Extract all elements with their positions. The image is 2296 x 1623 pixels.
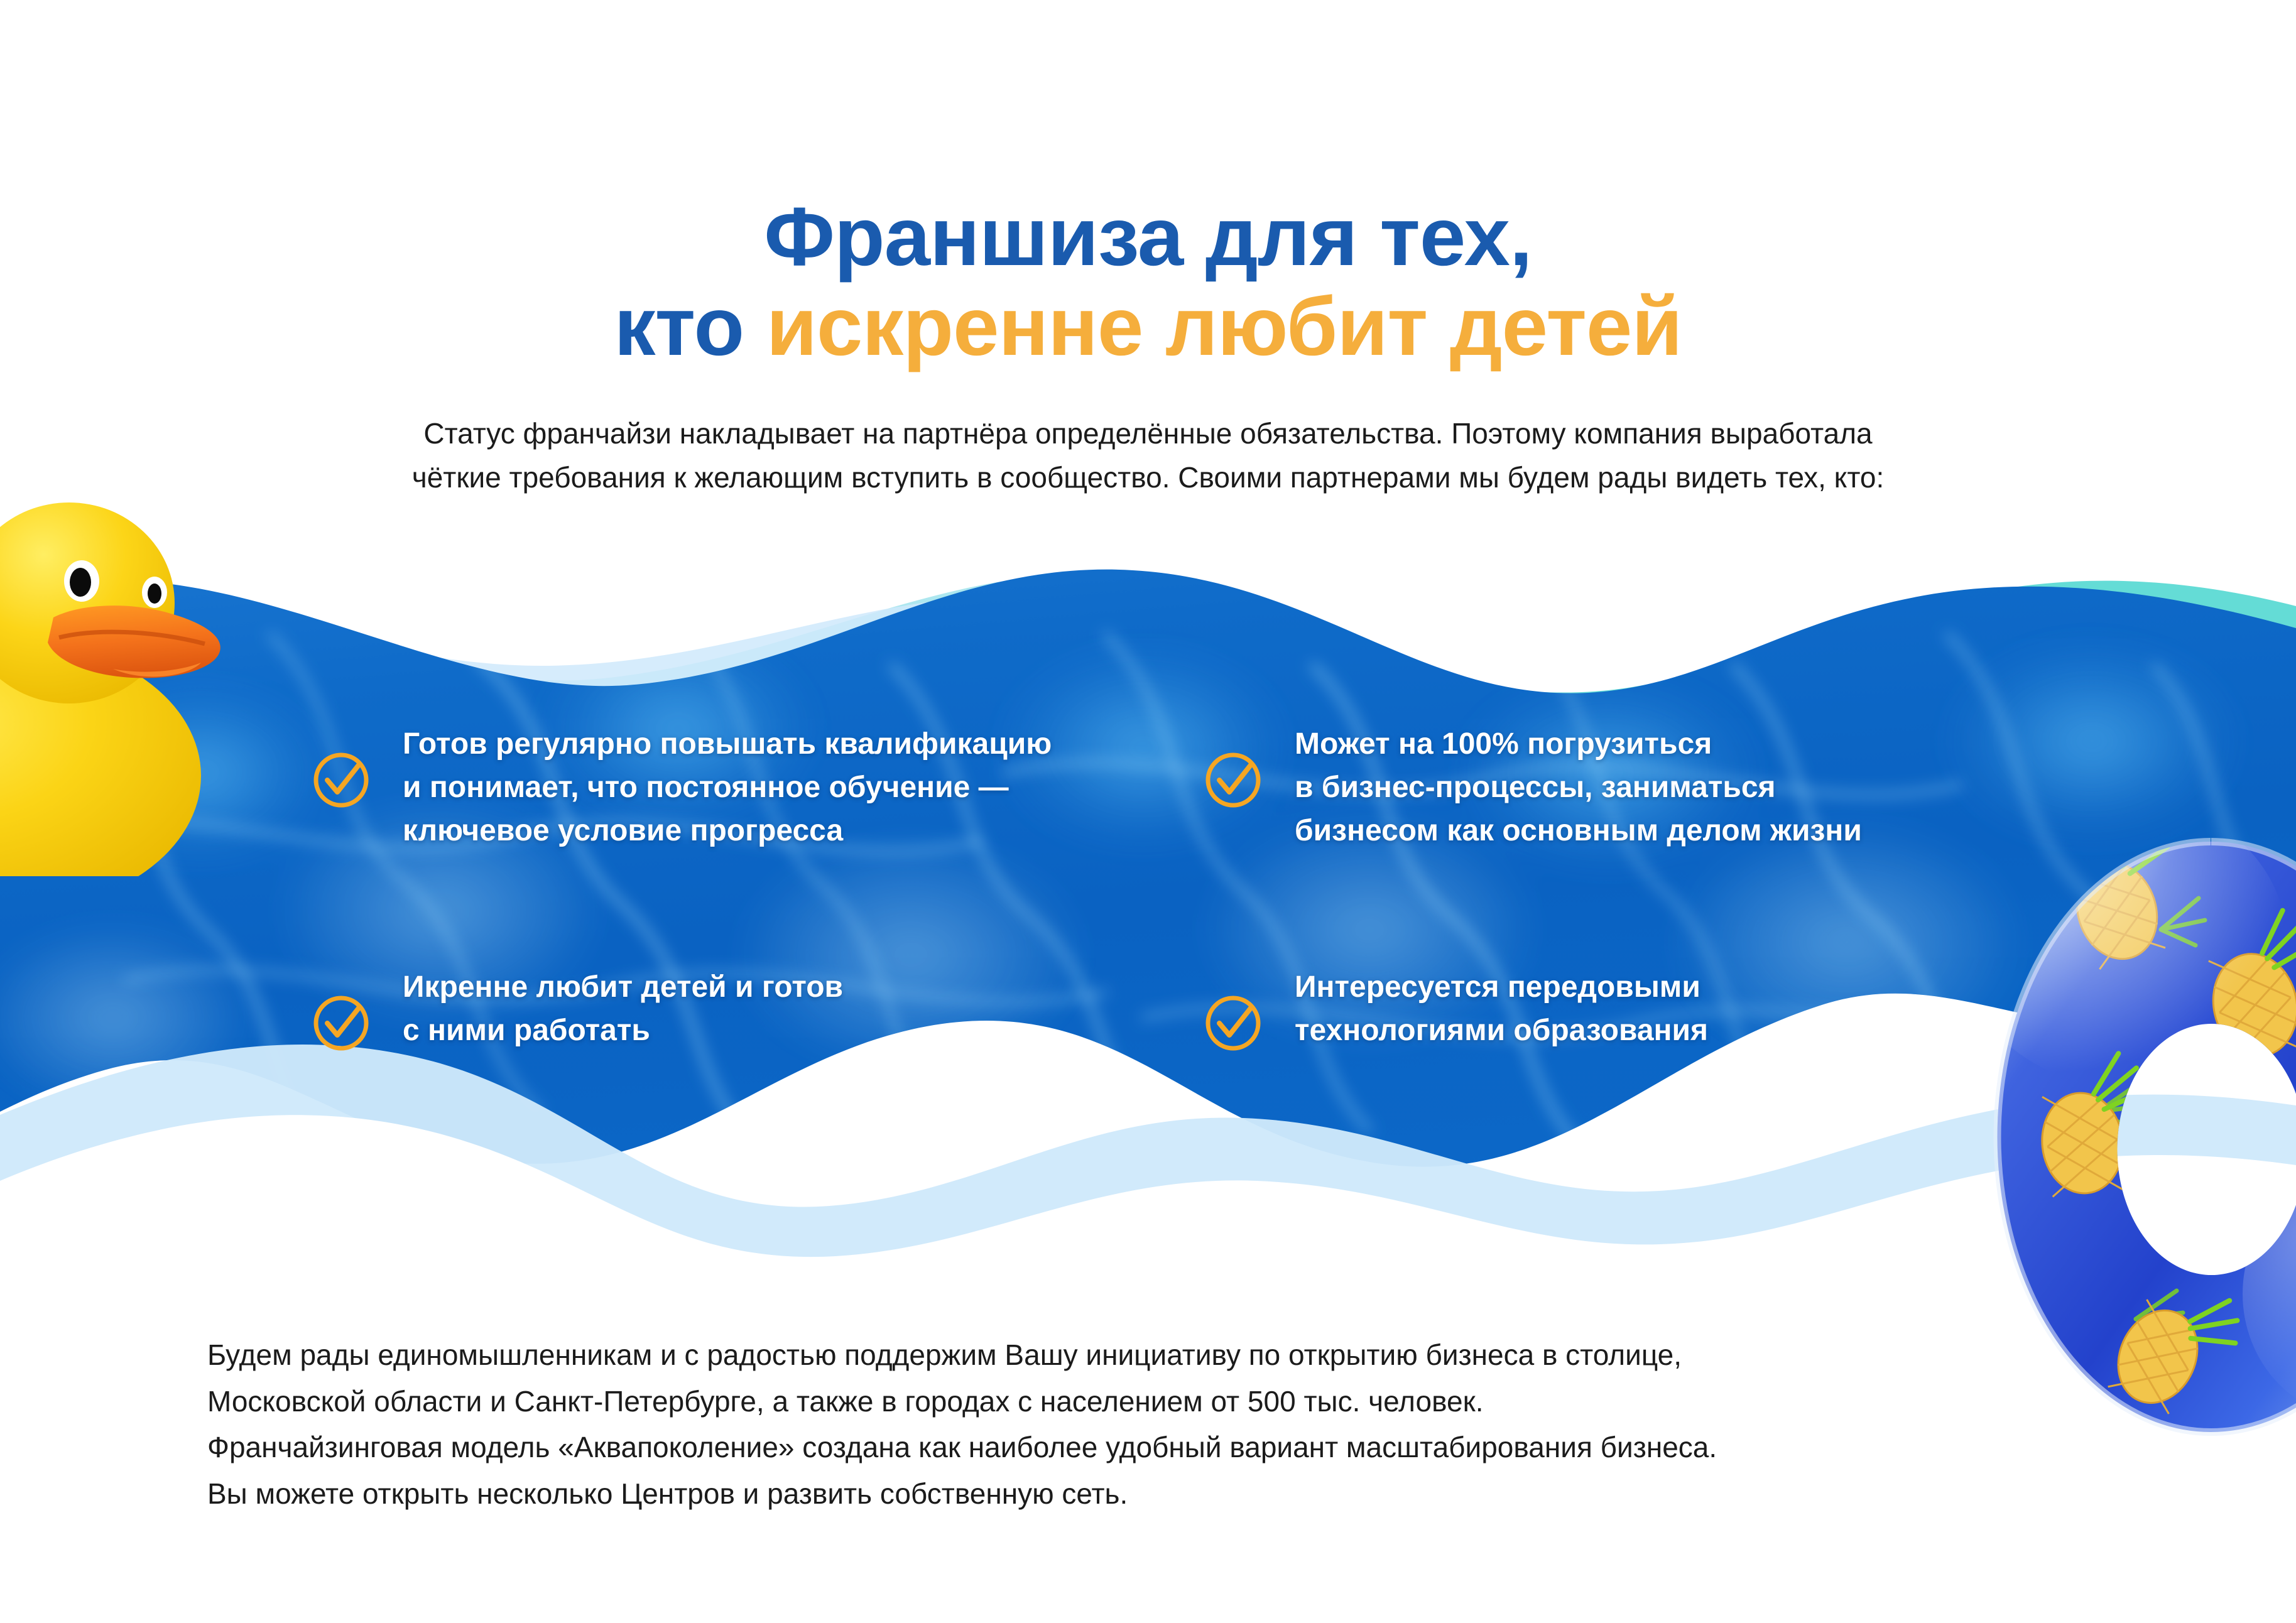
bullet-line: Может на 100% погрузиться bbox=[1295, 722, 1862, 766]
bullet-line: с ними работать bbox=[403, 1009, 843, 1052]
check-circle-icon bbox=[311, 993, 371, 1053]
list-item: Интересуется передовыми технологиями обр… bbox=[1203, 965, 2038, 1053]
outro-paragraph: Будем рады единомышленникам и с радостью… bbox=[207, 1332, 2067, 1517]
bullet-line: Икренне любит детей и готов bbox=[403, 965, 843, 1009]
intro-line-1: Статус франчайзи накладывает на партнёра… bbox=[259, 412, 2037, 456]
headline-line-1: Франшиза для тех, bbox=[0, 192, 2296, 282]
list-item-text: Готов регулярно повышать квалификацию и … bbox=[403, 722, 1052, 852]
list-item-text: Икренне любит детей и готов с ними работ… bbox=[403, 965, 843, 1052]
headline-line-2-accent: искренне любит детей bbox=[766, 280, 1682, 372]
intro-line-2: чёткие требования к желающим вступить в … bbox=[259, 456, 2037, 500]
bullet-line: Интересуется передовыми bbox=[1295, 965, 1708, 1009]
check-circle-icon bbox=[1203, 993, 1263, 1053]
slide-root: Франшиза для тех, кто искренне любит дет… bbox=[0, 0, 2296, 1623]
bullet-line: в бизнес-процессы, заниматься bbox=[1295, 766, 1862, 809]
check-circle-icon bbox=[311, 750, 371, 810]
outro-line-4: Вы можете открыть несколько Центров и ра… bbox=[207, 1471, 2067, 1517]
list-item-text: Интересуется передовыми технологиями обр… bbox=[1295, 965, 1708, 1052]
bullet-line: технологиями образования bbox=[1295, 1009, 1708, 1052]
check-circle-icon bbox=[1203, 750, 1263, 810]
bullet-line: ключевое условие прогресса bbox=[403, 809, 1052, 852]
list-item: Готов регулярно повышать квалификацию и … bbox=[311, 722, 1146, 852]
list-item-text: Может на 100% погрузиться в бизнес-проце… bbox=[1295, 722, 1862, 852]
headline-line-2-prefix: кто bbox=[614, 280, 766, 372]
intro-paragraph: Статус франчайзи накладывает на партнёра… bbox=[259, 412, 2037, 500]
page-title: Франшиза для тех, кто искренне любит дет… bbox=[0, 192, 2296, 371]
bullet-line: Готов регулярно повышать квалификацию bbox=[403, 722, 1052, 766]
list-item: Может на 100% погрузиться в бизнес-проце… bbox=[1203, 722, 2038, 852]
headline-line-2: кто искренне любит детей bbox=[0, 282, 2296, 372]
bullet-line: бизнесом как основным делом жизни bbox=[1295, 809, 1862, 852]
list-item: Икренне любит детей и готов с ними работ… bbox=[311, 965, 1146, 1053]
outro-line-3: Франчайзинговая модель «Аквапоколение» с… bbox=[207, 1425, 2067, 1471]
outro-line-2: Московской области и Санкт-Петербурге, а… bbox=[207, 1379, 2067, 1425]
outro-line-1: Будем рады единомышленникам и с радостью… bbox=[207, 1332, 2067, 1379]
bullet-line: и понимает, что постоянное обучение — bbox=[403, 766, 1052, 809]
requirements-list: Готов регулярно повышать квалификацию и … bbox=[311, 722, 2038, 1053]
